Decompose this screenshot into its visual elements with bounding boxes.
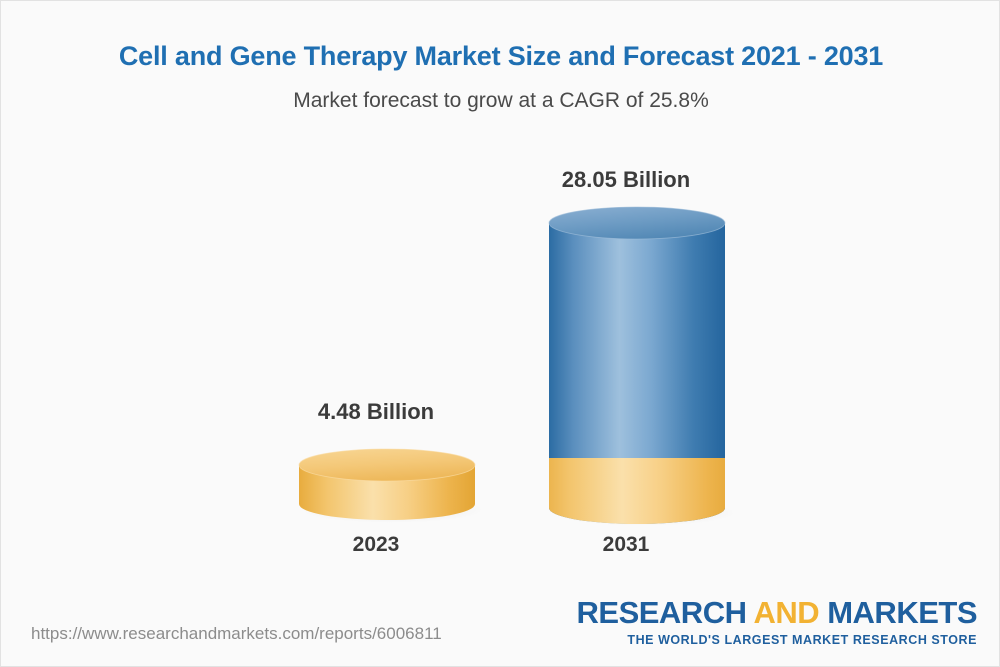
brand-name-part1: RESEARCH <box>577 595 754 630</box>
brand-name-part2: MARKETS <box>819 595 977 630</box>
plot-area: 4.48 Billion <box>1 1 1000 601</box>
category-label-2031: 2031 <box>538 533 714 557</box>
brand-name-and: AND <box>753 595 819 630</box>
brand-logo: RESEARCH AND MARKETS THE WORLD'S LARGEST… <box>577 597 978 647</box>
bar-group-2023: 4.48 Billion <box>288 161 464 561</box>
brand-name: RESEARCH AND MARKETS <box>577 597 978 628</box>
cylinder-2023[interactable] <box>288 448 488 528</box>
source-url[interactable]: https://www.researchandmarkets.com/repor… <box>31 624 442 644</box>
bar-group-2031: 28.05 Billion <box>538 161 714 561</box>
data-label-2031: 28.05 Billion <box>538 167 714 193</box>
chart-canvas: Cell and Gene Therapy Market Size and Fo… <box>0 0 1000 667</box>
category-label-2023: 2023 <box>288 533 464 557</box>
data-label-2023: 4.48 Billion <box>288 399 464 425</box>
brand-tagline: THE WORLD'S LARGEST MARKET RESEARCH STOR… <box>577 634 978 647</box>
cylinder-2031[interactable] <box>538 203 738 528</box>
